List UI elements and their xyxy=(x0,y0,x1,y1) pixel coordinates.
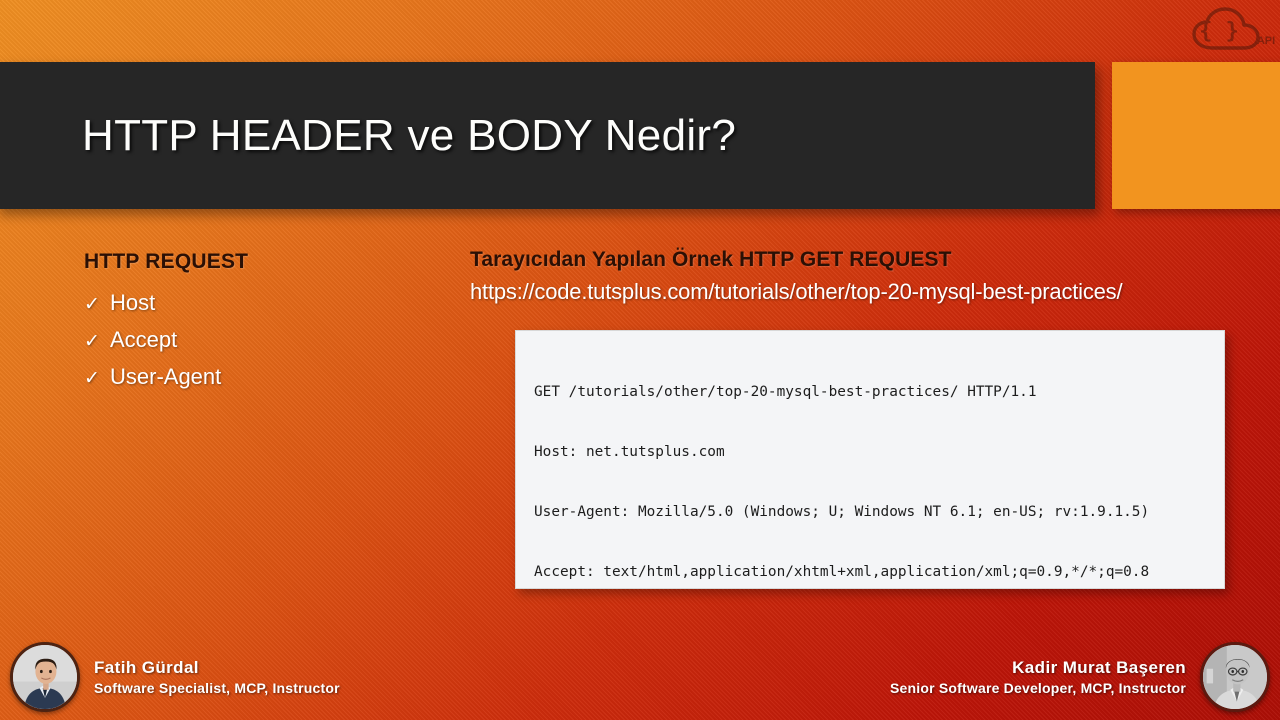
avatar xyxy=(1200,642,1270,712)
list-item: ✓ Host xyxy=(84,290,454,316)
http-request-code-block: GET /tutorials/other/top-20-mysql-best-p… xyxy=(515,330,1225,589)
list-item-label: User-Agent xyxy=(110,364,221,390)
list-item: ✓ User-Agent xyxy=(84,364,454,390)
list-item-label: Host xyxy=(110,290,155,316)
code-line: Host: net.tutsplus.com xyxy=(534,442,1224,462)
presenter-right-text: Kadir Murat Başeren Senior Software Deve… xyxy=(876,658,1200,696)
check-icon: ✓ xyxy=(84,295,110,314)
title-bar: HTTP HEADER ve BODY Nedir? xyxy=(0,62,1095,209)
presenter-right: Kadir Murat Başeren Senior Software Deve… xyxy=(876,642,1270,712)
sample-request-heading: Tarayıcıdan Yapılan Örnek HTTP GET REQUE… xyxy=(470,248,1280,272)
presenter-role: Senior Software Developer, MCP, Instruct… xyxy=(890,680,1186,696)
cloud-api-icon: { } API xyxy=(1186,4,1278,56)
slide-canvas: { } API HTTP HEADER ve BODY Nedir? HTTP … xyxy=(0,0,1280,720)
sample-request-url: https://code.tutsplus.com/tutorials/othe… xyxy=(470,279,1280,305)
logo-braces: { } xyxy=(1199,19,1239,44)
http-request-heading: HTTP REQUEST xyxy=(84,250,454,274)
presenter-name: Kadir Murat Başeren xyxy=(890,658,1186,678)
logo-api-label: API xyxy=(1257,35,1275,47)
list-item: ✓ Accept xyxy=(84,327,454,353)
code-line: User-Agent: Mozilla/5.0 (Windows; U; Win… xyxy=(534,502,1224,522)
code-line: Accept: text/html,application/xhtml+xml,… xyxy=(534,562,1224,582)
page-title: HTTP HEADER ve BODY Nedir? xyxy=(82,111,736,161)
check-icon: ✓ xyxy=(84,369,110,388)
accent-box xyxy=(1112,62,1280,209)
sample-request-section: Tarayıcıdan Yapılan Örnek HTTP GET REQUE… xyxy=(470,248,1280,305)
check-icon: ✓ xyxy=(84,332,110,351)
avatar xyxy=(10,642,80,712)
list-item-label: Accept xyxy=(110,327,177,353)
code-lines: GET /tutorials/other/top-20-mysql-best-p… xyxy=(534,342,1224,589)
presenter-name: Fatih Gürdal xyxy=(94,658,340,678)
http-request-section: HTTP REQUEST ✓ Host ✓ Accept ✓ User-Agen… xyxy=(84,250,454,401)
code-line: GET /tutorials/other/top-20-mysql-best-p… xyxy=(534,382,1224,402)
presenter-left: Fatih Gürdal Software Specialist, MCP, I… xyxy=(10,642,354,712)
presenter-role: Software Specialist, MCP, Instructor xyxy=(94,680,340,696)
presenter-left-text: Fatih Gürdal Software Specialist, MCP, I… xyxy=(80,658,354,696)
